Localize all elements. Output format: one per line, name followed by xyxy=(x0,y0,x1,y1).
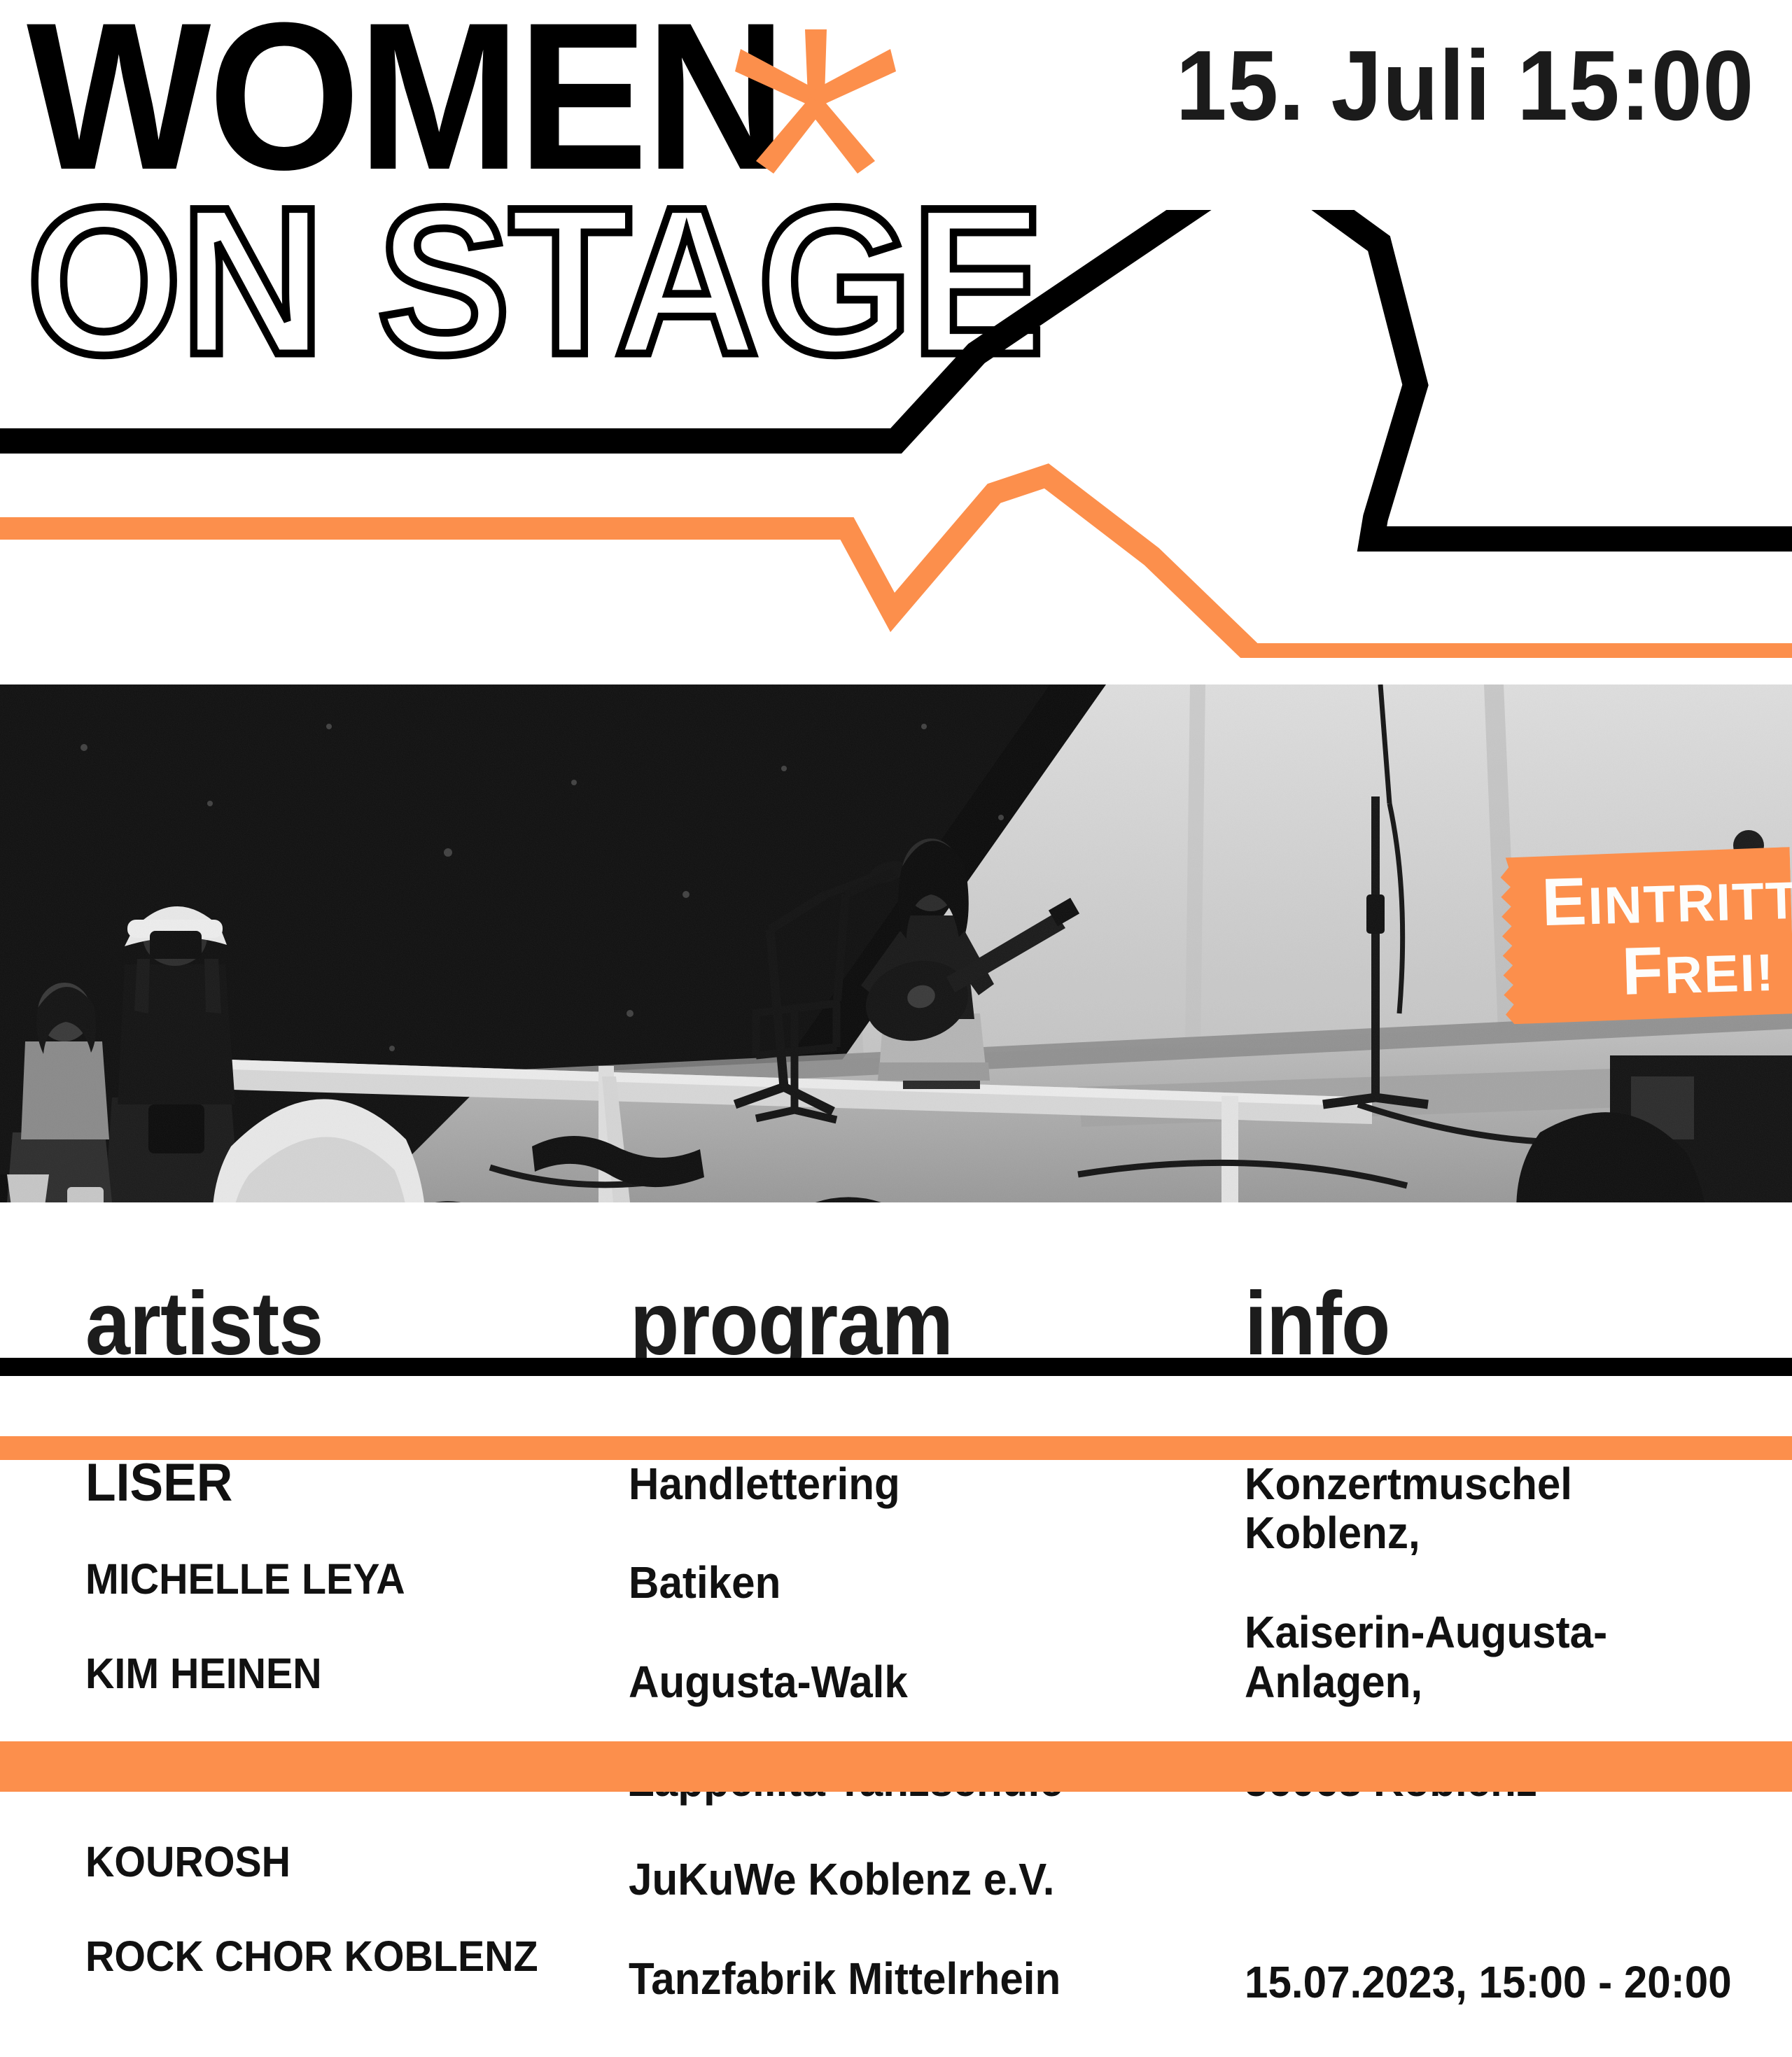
column-heading-program: program xyxy=(630,1279,953,1369)
event-photo: EINTRITT FREI! xyxy=(0,685,1792,1202)
poster-canvas: WOMEN ON STAGE 15. Juli 15:00 xyxy=(0,0,1792,1792)
list-item: KIM HEINEN xyxy=(85,1650,573,1697)
badge-line-1: EINTRITT xyxy=(1541,863,1774,936)
list-item: Tanzfabrik Mittelrhein xyxy=(629,1954,1128,2004)
list-item: ROCK CHOR KOBLENZ xyxy=(85,1933,573,1980)
header-divider-rule xyxy=(0,1358,1792,1376)
asterisk-icon xyxy=(735,29,896,174)
list-item: MICHELLE LEYA xyxy=(85,1556,573,1603)
poster-title-block: WOMEN ON STAGE xyxy=(27,10,1119,367)
artist-headline: LISER xyxy=(85,1456,573,1510)
schedule-line: 15.07.2023, 15:00 - 20:00 xyxy=(1245,1958,1744,2007)
venue-line: Kaiserin-Augusta-Anlagen, xyxy=(1245,1608,1744,1706)
info-columns: artists program info LISER MICHELLE LEYA… xyxy=(0,1279,1792,1727)
list-item: Augusta-Walk xyxy=(629,1657,1128,1707)
free-entry-badge: EINTRITT FREI! xyxy=(1496,847,1792,1025)
artists-list: LISER MICHELLE LEYA KIM HEINEN SAD POETS… xyxy=(85,1410,573,2028)
list-item: Batiken xyxy=(629,1558,1128,1608)
program-list: Handlettering Batiken Augusta-Walk Zappe… xyxy=(629,1410,1128,2053)
list-item: JuKuWe Koblenz e.V. xyxy=(629,1855,1128,1904)
badge-line-2: FREI! xyxy=(1543,934,1776,1008)
footer-accent-bar xyxy=(0,1741,1792,1792)
venue-line: Konzertmuschel Koblenz, xyxy=(1245,1459,1744,1558)
list-item: Handlettering xyxy=(629,1459,1128,1509)
title-on-stage: ON STAGE xyxy=(27,195,1064,367)
column-heading-info: info xyxy=(1245,1279,1390,1369)
column-heading-artists: artists xyxy=(85,1279,323,1369)
list-item: KOUROSH xyxy=(85,1839,573,1886)
info-block: Konzertmuschel Koblenz, Kaiserin-Augusta… xyxy=(1245,1410,1744,2057)
spacer xyxy=(1245,1855,1744,1908)
event-date-time: 15. Juli 15:00 xyxy=(1176,36,1754,136)
